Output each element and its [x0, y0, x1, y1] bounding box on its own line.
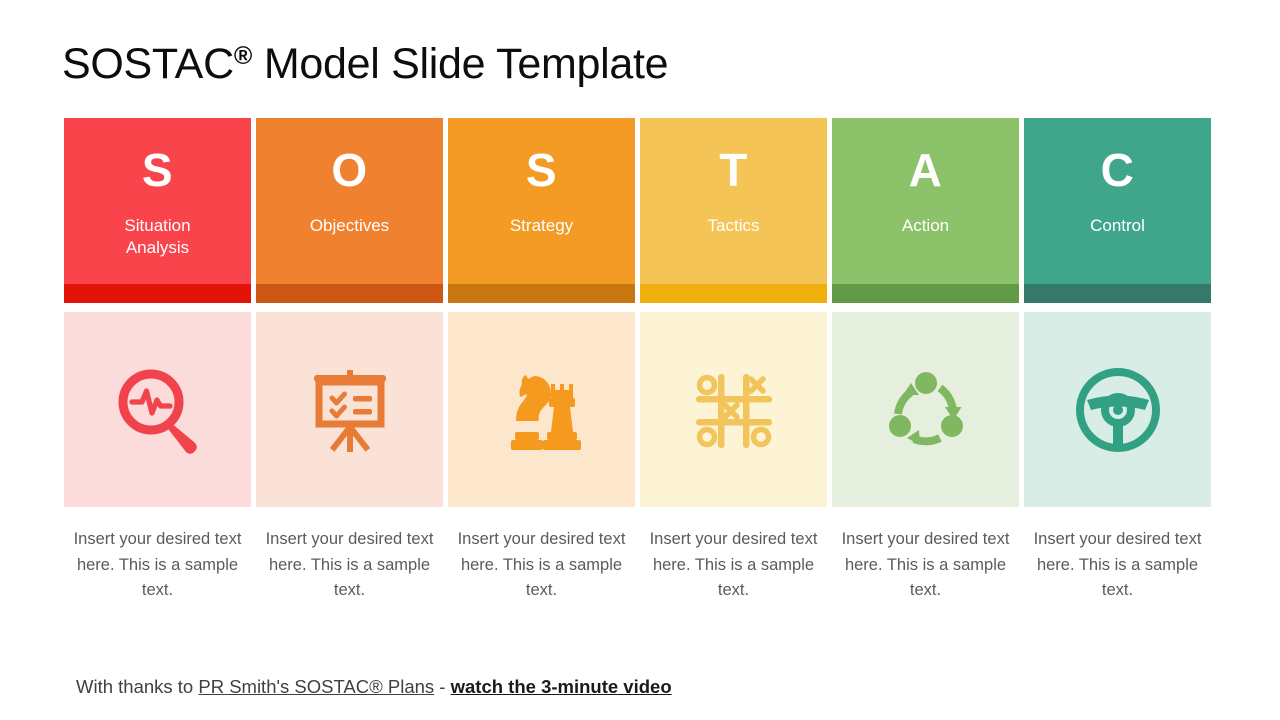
- presentation-board-checklist-icon: [302, 362, 398, 458]
- sostac-grid: SSituationAnalysisInsert your desired te…: [64, 118, 1216, 604]
- footer-separator: -: [434, 676, 450, 697]
- column-label: Action: [896, 215, 955, 237]
- column-accent-stripe: [256, 284, 443, 303]
- sostac-column-tactics: TTacticsInsert your desired text here. T…: [640, 118, 827, 604]
- column-icon-panel[interactable]: [832, 312, 1019, 507]
- page-title-main: SOSTAC: [62, 40, 234, 88]
- column-accent-stripe: [832, 284, 1019, 303]
- page-title: SOSTAC® Model Slide Template: [62, 40, 668, 89]
- column-header[interactable]: SSituationAnalysis: [64, 118, 251, 284]
- column-letter: O: [331, 147, 367, 193]
- registered-trademark-symbol: ®: [234, 42, 252, 70]
- column-letter: S: [142, 147, 173, 193]
- column-label: Strategy: [504, 215, 579, 237]
- column-label: SituationAnalysis: [118, 215, 196, 260]
- column-caption[interactable]: Insert your desired text here. This is a…: [832, 527, 1019, 604]
- column-icon-panel[interactable]: [448, 312, 635, 507]
- sostac-column-situation-analysis: SSituationAnalysisInsert your desired te…: [64, 118, 251, 604]
- column-caption[interactable]: Insert your desired text here. This is a…: [1024, 527, 1211, 604]
- column-header[interactable]: OObjectives: [256, 118, 443, 284]
- sostac-column-objectives: OObjectivesInsert your desired text here…: [256, 118, 443, 604]
- column-icon-panel[interactable]: [1024, 312, 1211, 507]
- column-accent-stripe: [64, 284, 251, 303]
- magnifier-pulse-icon: [110, 362, 206, 458]
- column-header[interactable]: TTactics: [640, 118, 827, 284]
- sostac-column-strategy: SStrategyInsert your desired text here. …: [448, 118, 635, 604]
- cyclical-arrows-icon: [878, 362, 974, 458]
- column-accent-stripe: [1024, 284, 1211, 303]
- page-title-suffix: Model Slide Template: [252, 40, 668, 88]
- column-caption[interactable]: Insert your desired text here. This is a…: [256, 527, 443, 604]
- chess-knight-rook-icon: [494, 362, 590, 458]
- tic-tac-toe-icon: [686, 362, 782, 458]
- column-header[interactable]: CControl: [1024, 118, 1211, 284]
- column-letter: T: [719, 147, 748, 193]
- column-label: Tactics: [702, 215, 766, 237]
- footer-prefix: With thanks to: [76, 676, 198, 697]
- footer-credit: With thanks to PR Smith's SOSTAC® Plans …: [76, 676, 672, 698]
- column-accent-stripe: [640, 284, 827, 303]
- sostac-column-control: CControlInsert your desired text here. T…: [1024, 118, 1211, 604]
- column-caption[interactable]: Insert your desired text here. This is a…: [640, 527, 827, 604]
- pr-smith-sostac-plans-link[interactable]: PR Smith's SOSTAC® Plans: [198, 676, 434, 697]
- column-letter: S: [526, 147, 557, 193]
- column-letter: A: [909, 147, 943, 193]
- column-label: Control: [1084, 215, 1151, 237]
- steering-wheel-icon: [1070, 362, 1166, 458]
- watch-video-link[interactable]: watch the 3-minute video: [451, 676, 672, 697]
- column-icon-panel[interactable]: [256, 312, 443, 507]
- column-icon-panel[interactable]: [64, 312, 251, 507]
- column-caption[interactable]: Insert your desired text here. This is a…: [448, 527, 635, 604]
- column-label: Objectives: [304, 215, 395, 237]
- column-icon-panel[interactable]: [640, 312, 827, 507]
- column-letter: C: [1101, 147, 1135, 193]
- column-header[interactable]: AAction: [832, 118, 1019, 284]
- sostac-column-action: AActionInsert your desired text here. Th…: [832, 118, 1019, 604]
- column-caption[interactable]: Insert your desired text here. This is a…: [64, 527, 251, 604]
- column-header[interactable]: SStrategy: [448, 118, 635, 284]
- column-accent-stripe: [448, 284, 635, 303]
